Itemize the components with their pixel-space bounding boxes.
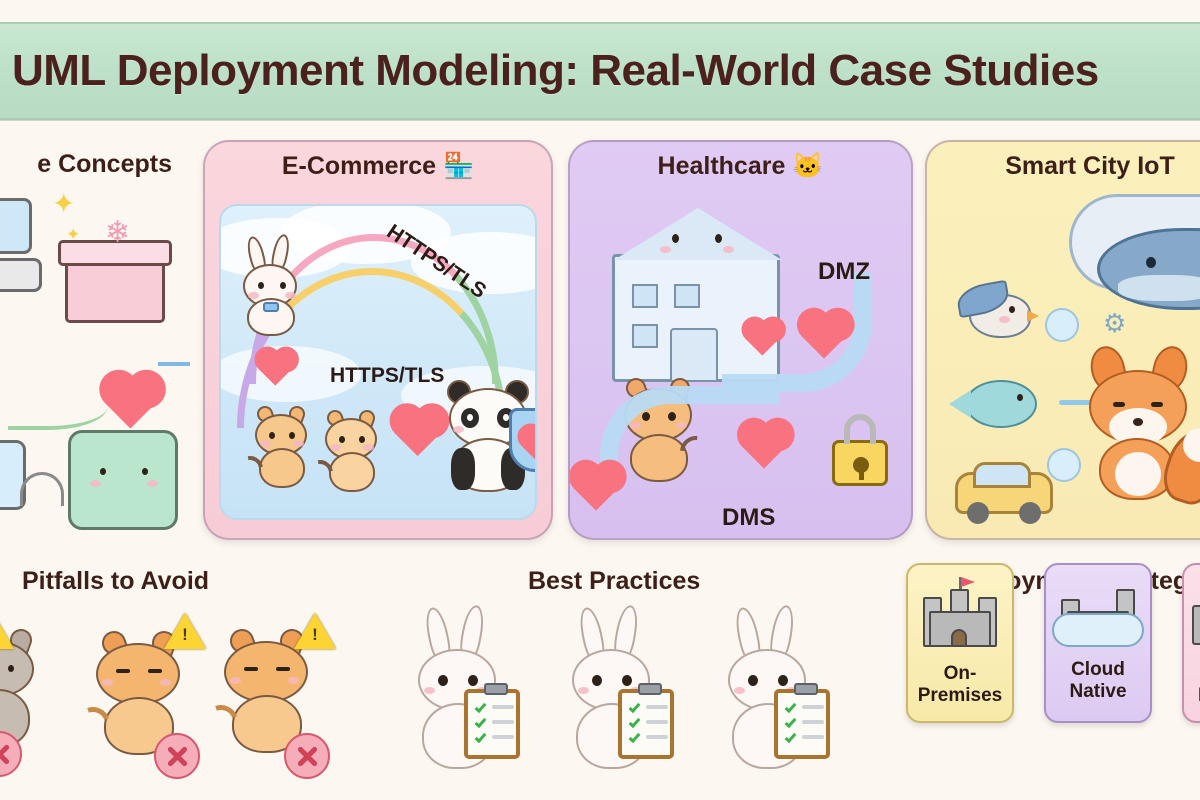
clipboard-icon xyxy=(618,689,674,759)
deployment-card-label: Cloud Native xyxy=(1046,659,1150,703)
fox-icon xyxy=(1075,346,1200,506)
warning-triangle-icon: ! xyxy=(294,613,336,649)
clipboard-icon xyxy=(774,689,830,759)
hospital-window-icon xyxy=(632,284,658,308)
pitfall-item[interactable]: ! xyxy=(78,613,228,783)
green-check-icon xyxy=(785,701,797,713)
panel-healthcare-title: Healthcare 🐱 xyxy=(570,152,911,181)
red-x-icon xyxy=(284,733,330,779)
best-practices-title: Best Practices xyxy=(528,567,700,596)
panel-core-concepts-title: e Concepts xyxy=(0,150,190,179)
panel-smart-city-iot-title: Smart City IoT xyxy=(927,152,1200,181)
deployment-card-on-premises[interactable]: On-Premises xyxy=(906,563,1014,723)
fish-icon xyxy=(949,378,1053,434)
cloud-icon xyxy=(1052,613,1144,647)
healthcare-dmz-label: DMZ xyxy=(818,258,870,286)
green-check-icon xyxy=(475,701,487,713)
panel-healthcare[interactable]: Healthcare 🐱 xyxy=(568,140,913,540)
panel-ecommerce-canvas xyxy=(219,204,537,520)
deployment-card-label-line2: Native xyxy=(1069,681,1126,702)
green-check-icon xyxy=(629,731,641,743)
green-check-icon xyxy=(475,731,487,743)
hospital-face-icon xyxy=(666,234,728,256)
rabbit-icon xyxy=(237,236,311,332)
computer-icon xyxy=(0,198,32,254)
puzzle-face-icon xyxy=(96,468,152,490)
hospital-window-icon xyxy=(674,284,700,308)
poster-root: UML Deployment Modeling: Real-World Case… xyxy=(0,0,1200,800)
clipboard-icon xyxy=(464,689,520,759)
clipboard-clip-icon xyxy=(484,683,508,695)
page-title: UML Deployment Modeling: Real-World Case… xyxy=(12,46,1099,96)
panel-smart-city-iot[interactable]: Smart City IoT ⚙ ⚙ xyxy=(925,140,1200,540)
green-check-icon xyxy=(629,701,641,713)
panel-ecommerce-title: E-Commerce 🏪 xyxy=(205,152,551,181)
pitfall-item[interactable]: ! xyxy=(0,613,74,783)
deployment-card-hybrid[interactable]: H xyxy=(1182,563,1200,723)
bottom-sections: Pitfalls to Avoid ! xyxy=(0,555,1200,800)
rainbow-bridge-icon xyxy=(1192,605,1200,645)
cat-icon xyxy=(319,402,391,494)
green-check-icon xyxy=(629,716,641,728)
robot-arm-icon xyxy=(20,472,64,506)
case-study-panels: e Concepts ✦ ✦ ❄ xyxy=(0,140,1200,555)
best-practice-item[interactable] xyxy=(552,607,702,787)
green-check-icon xyxy=(785,731,797,743)
car-wheel-icon xyxy=(1019,502,1041,524)
deployment-card-label: H xyxy=(1184,685,1200,707)
panel-core-concepts[interactable]: e Concepts ✦ ✦ ❄ xyxy=(0,140,190,540)
hospital-window-icon xyxy=(632,324,658,348)
red-x-icon xyxy=(154,733,200,779)
signal-bubble-icon xyxy=(1045,308,1079,342)
warning-triangle-icon: ! xyxy=(0,613,14,649)
best-practice-item[interactable] xyxy=(708,607,858,787)
clipboard-clip-icon xyxy=(638,683,662,695)
gear-icon: ⚙ xyxy=(1103,310,1126,336)
lock-shackle-icon xyxy=(844,414,876,444)
warning-triangle-icon: ! xyxy=(164,613,206,649)
cloud-castle-icon xyxy=(1061,583,1135,641)
title-banner: UML Deployment Modeling: Real-World Case… xyxy=(0,22,1200,120)
deployment-card-label-line1: Cloud xyxy=(1071,659,1125,680)
pitfall-item[interactable]: ! xyxy=(208,613,358,783)
car-window-icon xyxy=(973,462,1031,488)
deployment-card-label: On-Premises xyxy=(908,663,1012,707)
deployment-card-cloud-native[interactable]: Cloud Native xyxy=(1044,563,1152,723)
green-check-icon xyxy=(475,716,487,728)
castle-icon xyxy=(923,589,997,647)
panel-ecommerce[interactable]: E-Commerce 🏪 xyxy=(203,140,553,540)
green-check-icon xyxy=(785,716,797,728)
ecommerce-link-label-2: HTTPS/TLS xyxy=(330,364,444,388)
wire-blue-icon xyxy=(158,362,190,402)
bird-icon xyxy=(951,280,1043,344)
wire-green-icon xyxy=(8,390,108,430)
sparkle-icon: ✦ xyxy=(52,190,75,218)
lock-icon xyxy=(832,440,888,486)
car-wheel-icon xyxy=(967,502,989,524)
healthcare-dms-label: DMS xyxy=(722,504,775,532)
gift-ribbon-icon: ❄ xyxy=(105,218,130,248)
computer-base-icon xyxy=(0,258,42,292)
pitfalls-title: Pitfalls to Avoid xyxy=(22,567,209,596)
best-practice-item[interactable] xyxy=(398,607,548,787)
clipboard-clip-icon xyxy=(794,683,818,695)
